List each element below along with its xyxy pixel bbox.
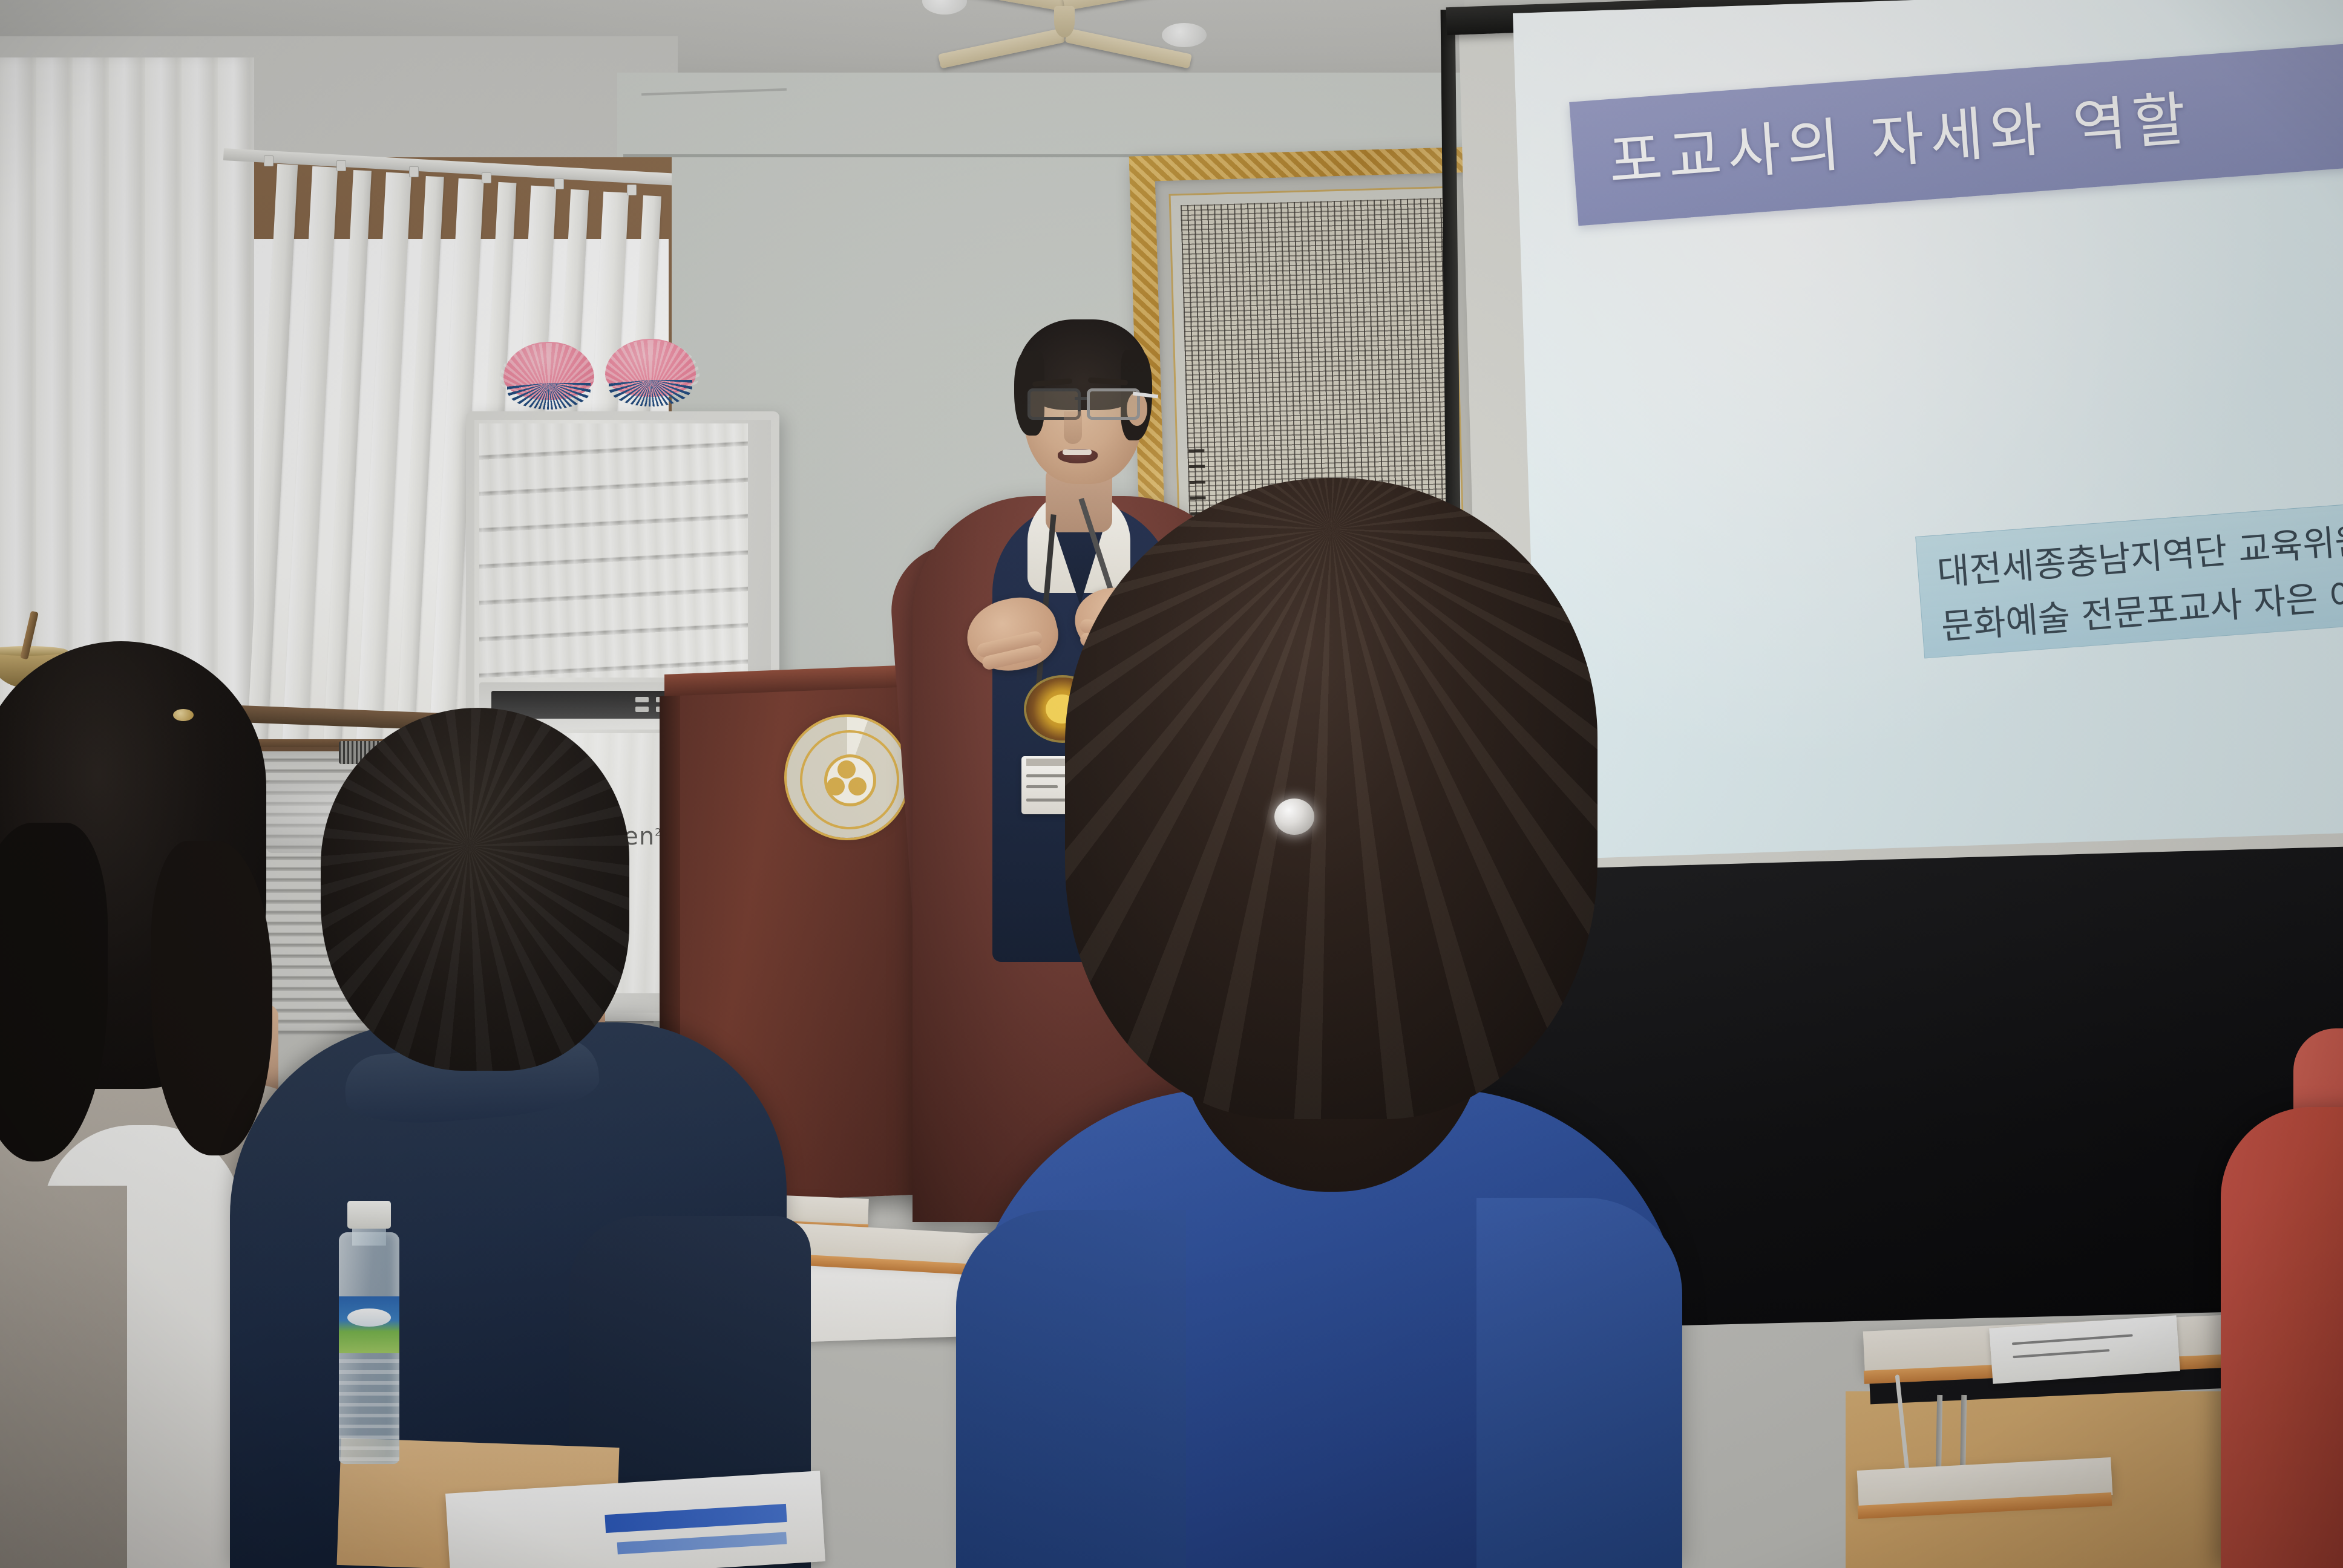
fan-hub xyxy=(1054,6,1075,38)
shoulder xyxy=(956,1210,1186,1568)
bottle-label-emblem xyxy=(347,1308,391,1327)
photo-scene: hauzen2 포교사의 자세와 역할 대전세종충남지역단 교육위원 문화 xyxy=(0,0,2343,1568)
fan-blade xyxy=(1063,0,1199,11)
fan-blade xyxy=(938,28,1065,68)
nose xyxy=(1064,411,1082,444)
bottle-cap[interactable] xyxy=(347,1201,391,1229)
hair-sheen xyxy=(1065,478,1597,1119)
knit-vest-front xyxy=(0,1186,127,1568)
blind-clip xyxy=(336,160,346,171)
audience-member-blue-woman xyxy=(992,478,1658,1568)
lotus-base xyxy=(609,380,692,407)
fan-light-glass xyxy=(1162,23,1207,47)
teeth xyxy=(1063,449,1092,455)
fan-light-glass xyxy=(922,0,967,15)
audience-member-man xyxy=(254,708,799,1568)
lotus-lantern xyxy=(605,339,696,407)
water-bottle[interactable] xyxy=(339,1201,399,1464)
audience-member-red xyxy=(2221,1107,2343,1568)
blind-clip xyxy=(554,178,564,189)
lotus-lantern xyxy=(503,342,594,410)
hair-texture xyxy=(321,708,629,1071)
hair-pin xyxy=(173,709,194,721)
ac-glare xyxy=(479,423,748,678)
shoulder xyxy=(1476,1198,1682,1568)
lotus-base xyxy=(507,383,591,410)
emblem-dot xyxy=(827,777,845,795)
lotus-emblem-icon xyxy=(787,717,908,838)
emblem-dot xyxy=(848,777,867,795)
paper-text-line xyxy=(2012,1334,2133,1345)
eyeglass-bridge xyxy=(1075,397,1088,400)
blind-clip xyxy=(627,185,637,195)
eyeglasses-icon xyxy=(1027,388,1142,416)
blind-clip xyxy=(482,172,491,183)
emblem-dot xyxy=(837,760,856,779)
blind-clip xyxy=(409,166,419,177)
ceiling-fan-icon xyxy=(926,0,1204,66)
pearl-hair-clip xyxy=(1274,799,1314,835)
blind-clip xyxy=(264,155,274,166)
paper-text-line xyxy=(2013,1349,2109,1358)
eyeglass-lens xyxy=(1087,388,1140,420)
ac-button[interactable] xyxy=(635,697,649,702)
bottle-ridges xyxy=(339,1359,399,1462)
